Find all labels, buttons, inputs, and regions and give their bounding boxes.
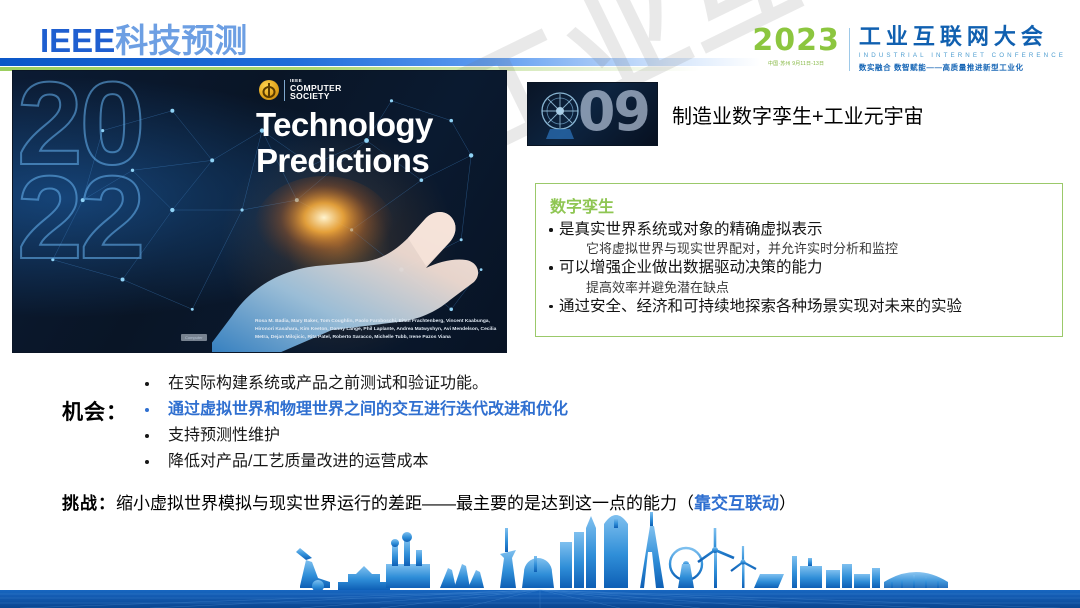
ieee-computer-society-logo: IEEE COMPUTER SOCIETY (259, 79, 342, 101)
list-item: 降低对产品/工艺质量改进的运营成本 (140, 449, 568, 475)
conference-slogan: 数实融合 数智赋能——高质量推进新型工业化 (859, 62, 1066, 73)
header-divider-blue (0, 58, 760, 66)
topic-number-thumbnail: 09 (527, 82, 658, 146)
ieee-emblem-icon (259, 80, 279, 100)
list-item: 支持预测性维护 (140, 423, 568, 449)
list-item-sub: 提高效率并避免潜在缺点 (586, 279, 1052, 296)
list-item: 是真实世界系统或对象的精确虚拟表示 (548, 219, 1052, 240)
cover-badge: Computer (181, 334, 207, 341)
cover-heading-line1: Technology (256, 107, 501, 143)
conference-name-cn: 工业互联网大会 (859, 26, 1066, 48)
logo-divider (284, 80, 285, 101)
cover-year-bottom: 22 (17, 171, 142, 265)
list-item: 通过安全、经济和可持续地探索各种场景实现对未来的实验 (548, 296, 1052, 317)
ieee-logo-line-society: SOCIETY (290, 92, 342, 101)
digital-twin-bullet-list: 是真实世界系统或对象的精确虚拟表示 它将虚拟世界与现实世界配对，并允许实时分析和… (548, 219, 1052, 317)
list-item-sub: 它将虚拟世界与现实世界配对，并允许实时分析和监控 (586, 240, 1052, 257)
opportunities-list: 在实际构建系统或产品之前测试和验证功能。 通过虚拟世界和物理世界之间的交互进行迭… (140, 371, 568, 475)
conference-date: 中国·苏州 9月11日-13日 (768, 60, 824, 67)
cover-year-2022: 20 22 (17, 77, 142, 266)
conference-name-en: INDUSTRIAL INTERNET CONFERENCE (859, 52, 1066, 59)
digital-twin-box-title: 数字孪生 (550, 193, 1052, 217)
conference-logo-year-block: 2023 中国·苏州 9月11日-13日 (752, 26, 849, 67)
page-title-en: IEEE (40, 22, 115, 59)
conference-year: 2023 (752, 26, 840, 56)
list-item-highlighted: 通过虚拟世界和物理世界之间的交互进行迭代改进和优化 (140, 397, 568, 423)
ieee-logo-text: IEEE COMPUTER SOCIETY (290, 79, 342, 101)
conference-logo-name-block: 工业互联网大会 INDUSTRIAL INTERNET CONFERENCE 数… (850, 26, 1066, 73)
slide-canvas: IEEE科技预测 2023 中国·苏州 9月11日-13日 工业互联网大会 IN… (0, 0, 1080, 608)
page-title-cn: 科技预测 (115, 22, 247, 59)
topic-title: 制造业数字孪生+工业元宇宙 (672, 100, 924, 129)
opportunities-label: 机会： (62, 396, 128, 426)
list-item: 可以增强企业做出数据驱动决策的能力 (548, 257, 1052, 278)
technology-predictions-cover-image: 20 22 IEEE COMPUTER SOCIETY Technology P… (12, 70, 507, 353)
list-item: 在实际构建系统或产品之前测试和验证功能。 (140, 371, 568, 397)
conference-logo: 2023 中国·苏州 9月11日-13日 工业互联网大会 INDUSTRIAL … (752, 26, 1066, 73)
cover-authors-list: Rosa M. Badia, Mary Baker, Tom Coughlin,… (255, 318, 500, 342)
topic-number: 09 (578, 85, 649, 139)
digital-twin-info-box: 数字孪生 是真实世界系统或对象的精确虚拟表示 它将虚拟世界与现实世界配对，并允许… (535, 183, 1063, 337)
city-skyline-graphic (0, 498, 1080, 608)
page-title: IEEE科技预测 (40, 14, 247, 62)
footer-skyline (0, 498, 1080, 608)
